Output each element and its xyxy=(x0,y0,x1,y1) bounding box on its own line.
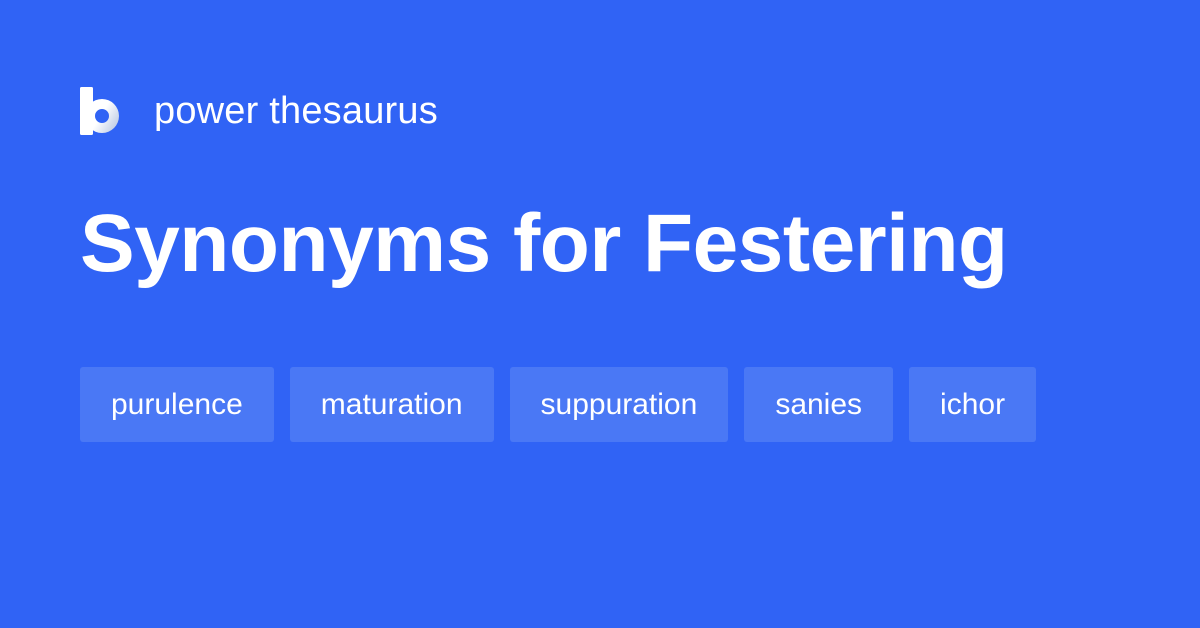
synonym-chip[interactable]: sanies xyxy=(744,367,893,442)
power-thesaurus-b-logo-icon xyxy=(80,87,126,135)
brand-header[interactable]: power thesaurus xyxy=(80,82,438,140)
synonym-chip[interactable]: suppuration xyxy=(510,367,729,442)
page-title: Synonyms for Festering xyxy=(80,196,1008,292)
synonym-chip[interactable]: purulence xyxy=(80,367,274,442)
share-card: power thesaurus Synonyms for Festering p… xyxy=(0,0,1200,628)
synonym-chip[interactable]: ichor xyxy=(909,367,1036,442)
brand-name: power thesaurus xyxy=(154,92,438,130)
synonym-chip[interactable]: maturation xyxy=(290,367,494,442)
synonym-chip-list: purulence maturation suppuration sanies … xyxy=(80,367,1120,442)
